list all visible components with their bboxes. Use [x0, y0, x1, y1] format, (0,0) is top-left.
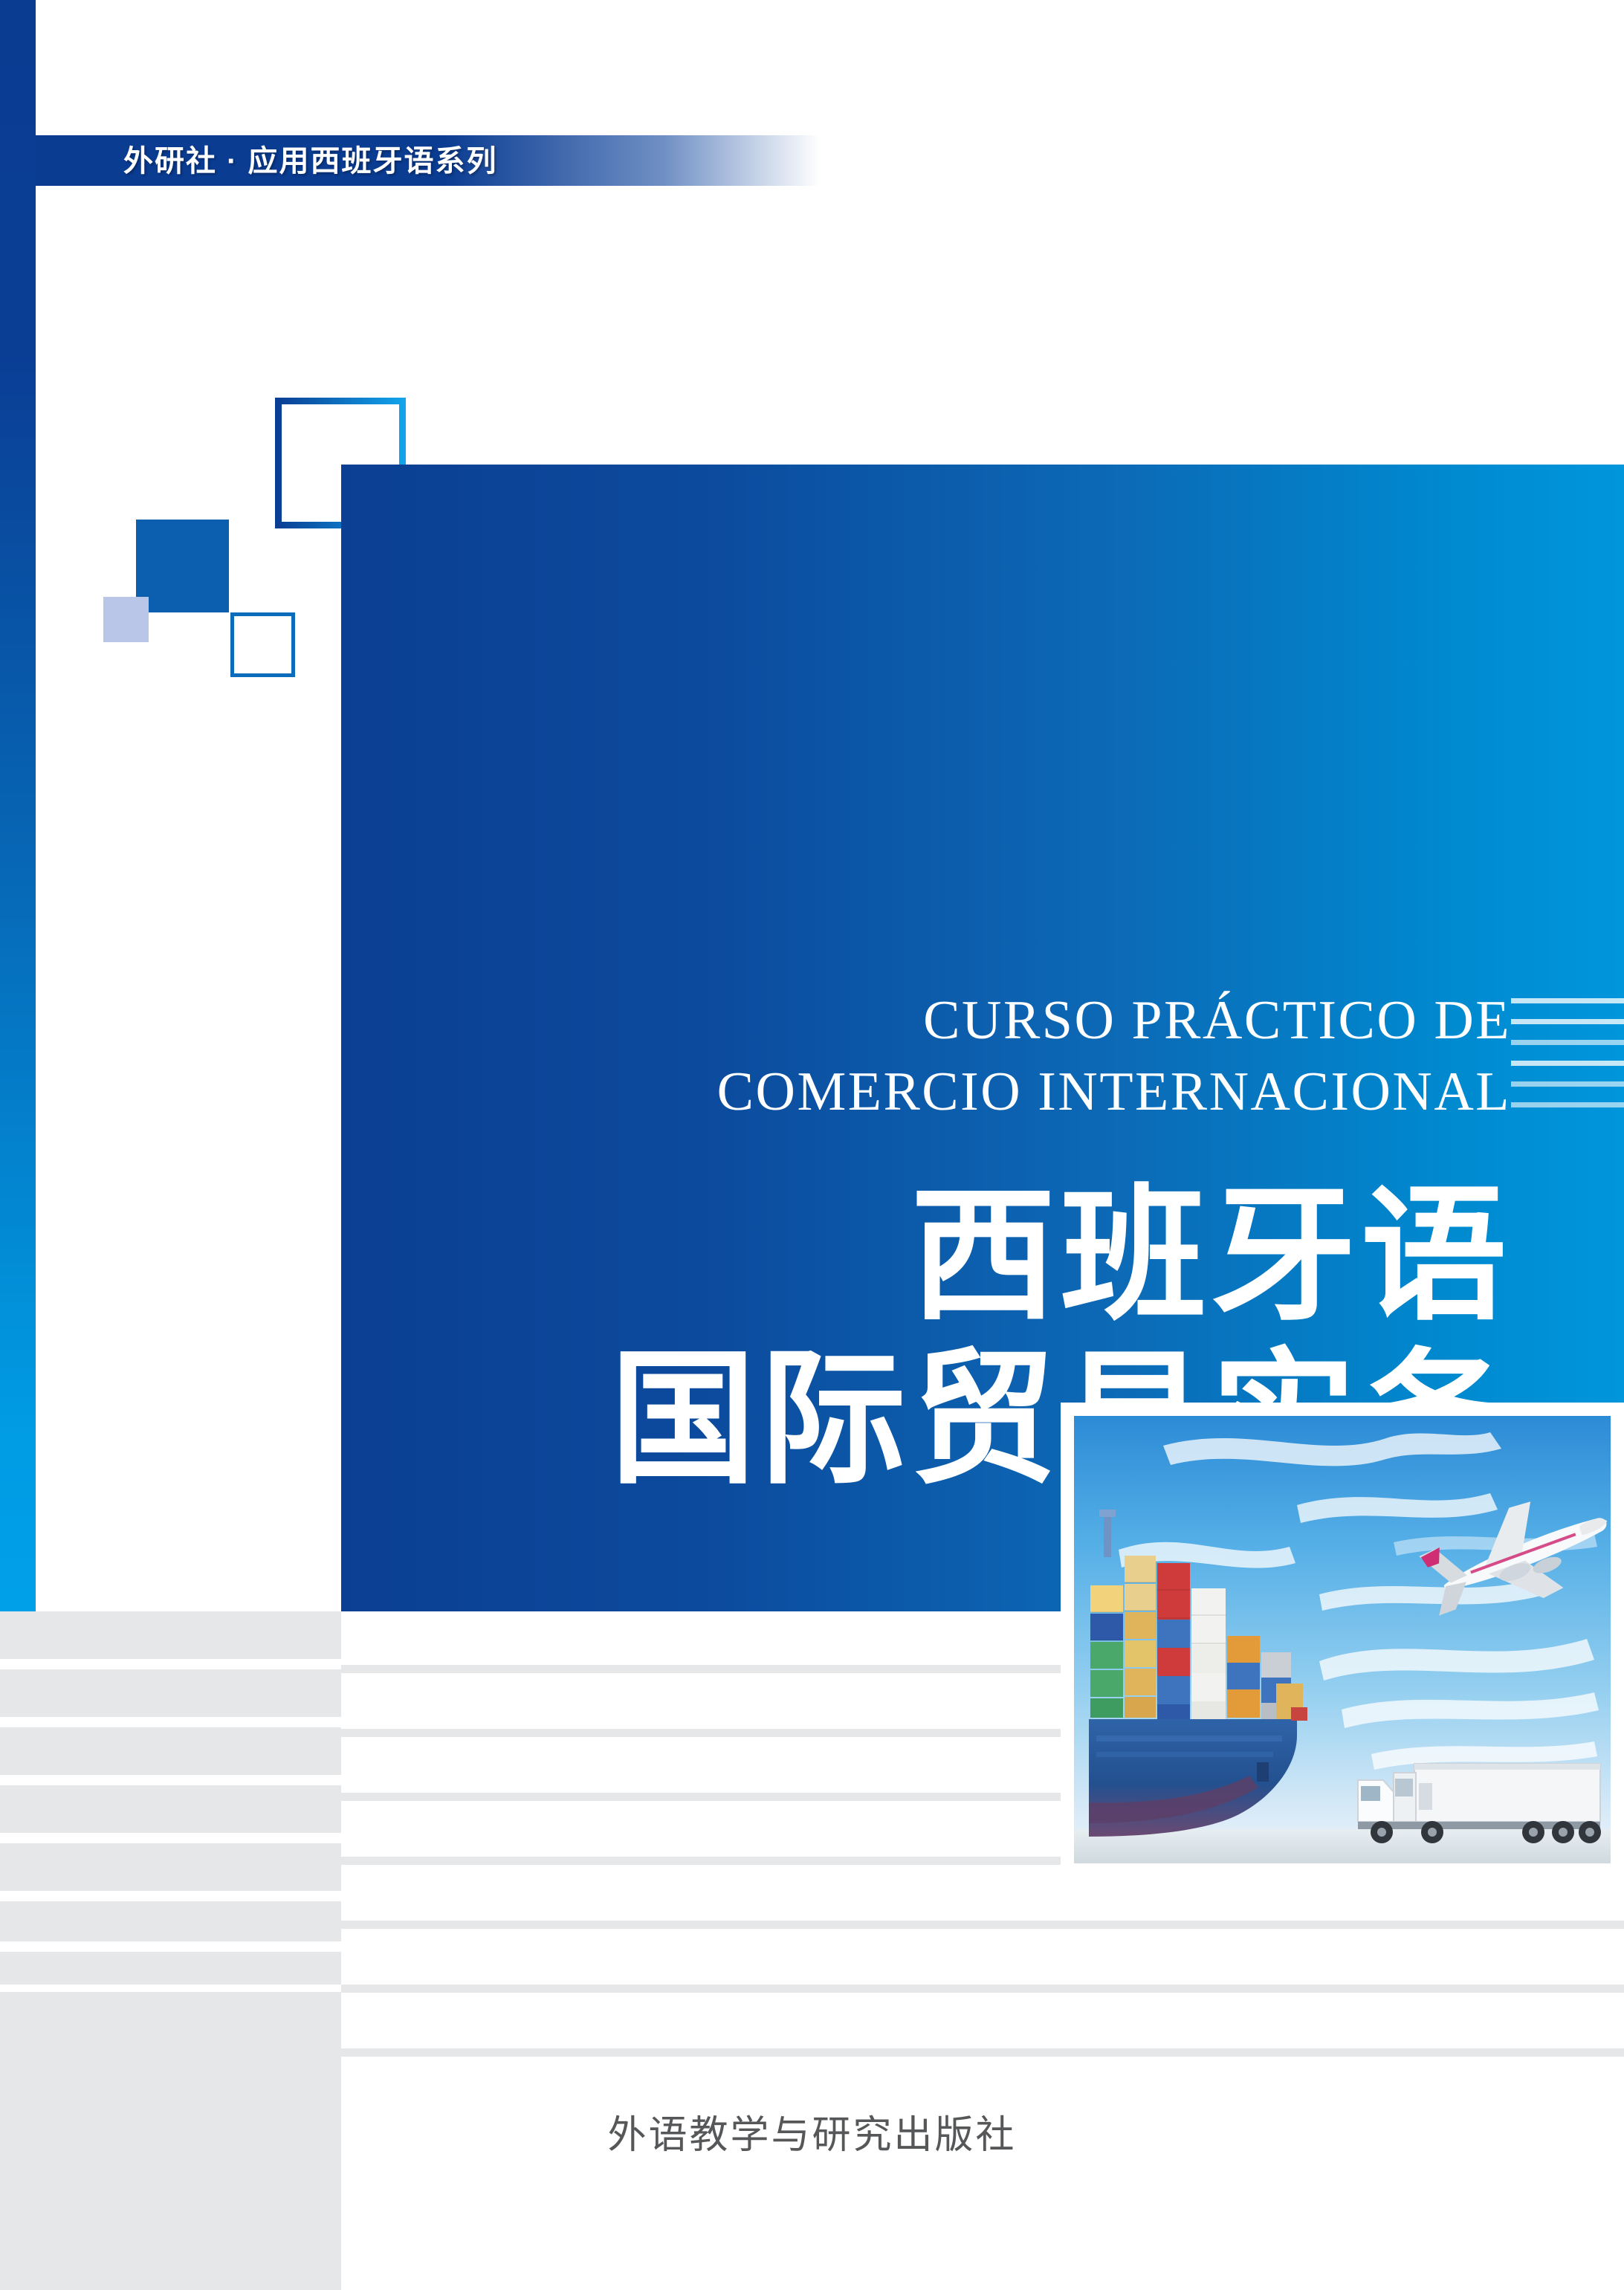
- spanish-title: CURSO PRÁCTICO DE COMERCIO INTERNACIONAL: [433, 985, 1511, 1128]
- publisher-name: 外语教学与研究出版社: [0, 2103, 1624, 2159]
- stripe-band: [0, 1901, 341, 1941]
- decor-lavender-square: [103, 597, 149, 642]
- decor-outline-square-small: [230, 612, 295, 677]
- stripe-rule: [341, 2048, 1624, 2057]
- series-banner-label: 外研社 · 应用西班牙语系列: [123, 140, 498, 183]
- spine-gradient-strip: [0, 0, 36, 1611]
- stripe-band: [0, 1669, 341, 1717]
- stripe-band: [0, 1952, 341, 1985]
- stripe-rule: [341, 1921, 1624, 1929]
- cover-photo-frame: [1061, 1403, 1624, 1877]
- bottom-stripes-left: [0, 1611, 341, 2290]
- spanish-title-line1: CURSO PRÁCTICO DE: [433, 985, 1511, 1056]
- cover-photo-logistics: [1074, 1416, 1611, 1863]
- decor-accent-lines: [1511, 998, 1624, 1123]
- spanish-title-line2: COMERCIO INTERNACIONAL: [433, 1056, 1511, 1128]
- stripe-rule: [341, 1985, 1624, 1993]
- stripe-band: [0, 1843, 341, 1891]
- decor-filled-square: [136, 520, 229, 612]
- stripe-band: [0, 1727, 341, 1775]
- chinese-title-line1: 西班牙语: [396, 1174, 1511, 1338]
- stripe-band: [0, 1611, 341, 1659]
- book-cover: 外研社 · 应用西班牙语系列 CURSO PRÁCTICO DE COMERCI…: [0, 0, 1624, 2290]
- logistics-illustration: [1074, 1416, 1611, 1863]
- stripe-band: [0, 1785, 341, 1833]
